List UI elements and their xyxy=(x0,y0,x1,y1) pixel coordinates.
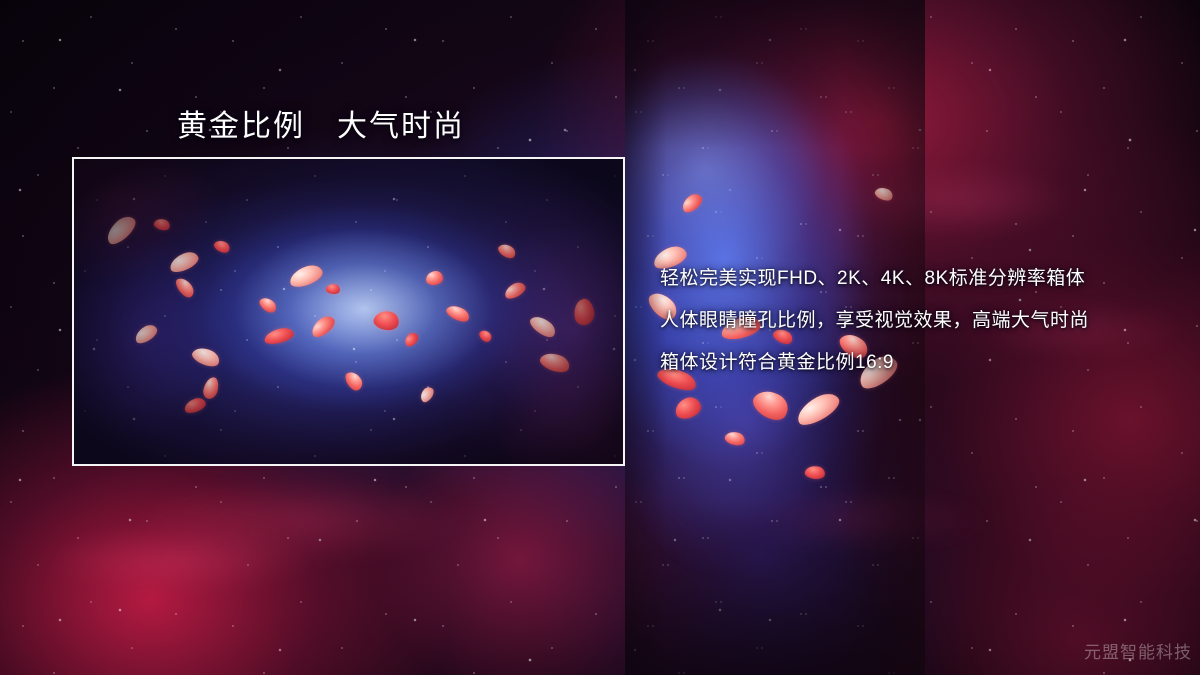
body-line-2: 人体眼睛瞳孔比例，享受视觉效果，高端大气时尚 xyxy=(660,300,1180,342)
body-line-1: 轻松完美实现FHD、2K、4K、8K标准分辨率箱体 xyxy=(660,258,1180,300)
body-text-block: 轻松完美实现FHD、2K、4K、8K标准分辨率箱体 人体眼睛瞳孔比例，享受视觉效… xyxy=(660,258,1180,384)
framed-image-panel xyxy=(72,157,625,466)
presentation-slide: 黄金比例 大气时尚 轻松完美实现FHD、2K、4K、8K标准分辨率箱体 人体眼睛… xyxy=(0,0,1200,675)
page-title: 黄金比例 大气时尚 xyxy=(177,101,465,145)
body-line-3: 箱体设计符合黄金比例16:9 xyxy=(660,342,1180,384)
inner-vignette xyxy=(74,159,623,464)
watermark: 元盟智能科技 xyxy=(1084,638,1192,663)
